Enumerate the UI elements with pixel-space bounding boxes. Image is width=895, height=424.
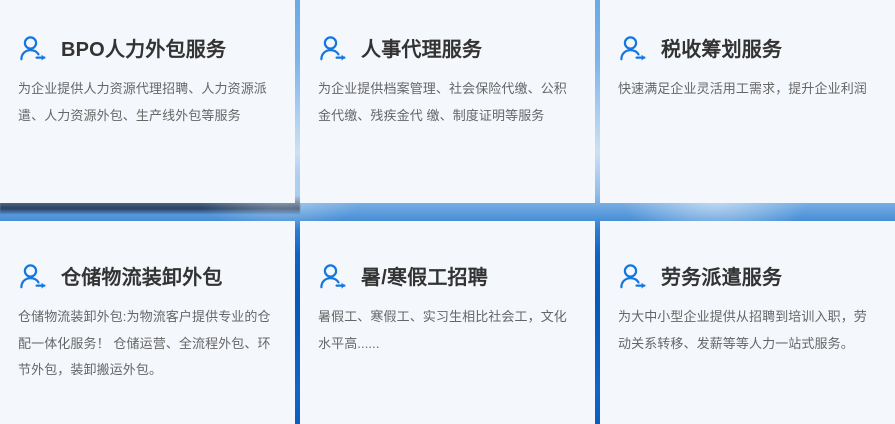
service-cards-section: BPO人力外包服务 为企业提供人力资源代理招聘、人力资源派遣、人力资源外包、生产… (0, 0, 895, 424)
service-card-bpo[interactable]: BPO人力外包服务 为企业提供人力资源代理招聘、人力资源派遣、人力资源外包、生产… (0, 0, 295, 203)
card-description: 快速满足企业灵活用工需求，提升企业利润 (618, 76, 876, 103)
service-card-warehouse-logistics[interactable]: 仓储物流装卸外包 仓储物流装卸外包:为物流客户提供专业的仓配一体化服务！ 仓储运… (0, 221, 295, 424)
service-card-labor-dispatch[interactable]: 劳务派遣服务 为大中小型企业提供从招聘到培训入职，劳动关系转移、发薪等等人力一站… (600, 221, 895, 424)
user-arrow-icon (18, 263, 48, 293)
user-arrow-icon (318, 263, 348, 293)
card-description: 仓储物流装卸外包:为物流客户提供专业的仓配一体化服务！ 仓储运营、全流程外包、环… (18, 304, 276, 384)
card-description: 为企业提供档案管理、社会保险代缴、公积金代缴、残疾金代 缴、制度证明等服务 (318, 76, 576, 130)
card-title: 劳务派遣服务 (661, 267, 782, 289)
card-header: 人事代理服务 (318, 0, 577, 65)
user-arrow-icon (618, 263, 648, 293)
card-description: 暑假工、寒假工、实习生相比社会工，文化水平高...... (318, 304, 576, 357)
card-title: 税收筹划服务 (661, 39, 782, 61)
card-header: 暑/寒假工招聘 (318, 221, 577, 293)
user-arrow-icon (318, 35, 348, 65)
card-title: 仓储物流装卸外包 (61, 267, 223, 289)
card-title: 暑/寒假工招聘 (361, 267, 488, 289)
service-card-seasonal-recruitment[interactable]: 暑/寒假工招聘 暑假工、寒假工、实习生相比社会工，文化水平高...... (300, 221, 595, 424)
card-header: 劳务派遣服务 (618, 221, 877, 293)
card-description: 为大中小型企业提供从招聘到培训入职，劳动关系转移、发薪等等人力一站式服务。 (618, 304, 876, 357)
card-description: 为企业提供人力资源代理招聘、人力资源派遣、人力资源外包、生产线外包等服务 (18, 76, 276, 130)
user-arrow-icon (18, 35, 48, 65)
card-title: 人事代理服务 (361, 39, 482, 61)
service-card-tax-planning[interactable]: 税收筹划服务 快速满足企业灵活用工需求，提升企业利润 (600, 0, 895, 203)
card-title: BPO人力外包服务 (61, 39, 226, 61)
card-header: 税收筹划服务 (618, 0, 877, 65)
service-card-hr-agency[interactable]: 人事代理服务 为企业提供档案管理、社会保险代缴、公积金代缴、残疾金代 缴、制度证… (300, 0, 595, 203)
service-card-grid: BPO人力外包服务 为企业提供人力资源代理招聘、人力资源派遣、人力资源外包、生产… (0, 0, 895, 424)
user-arrow-icon (618, 35, 648, 65)
card-header: BPO人力外包服务 (18, 0, 277, 65)
card-header: 仓储物流装卸外包 (18, 221, 277, 293)
